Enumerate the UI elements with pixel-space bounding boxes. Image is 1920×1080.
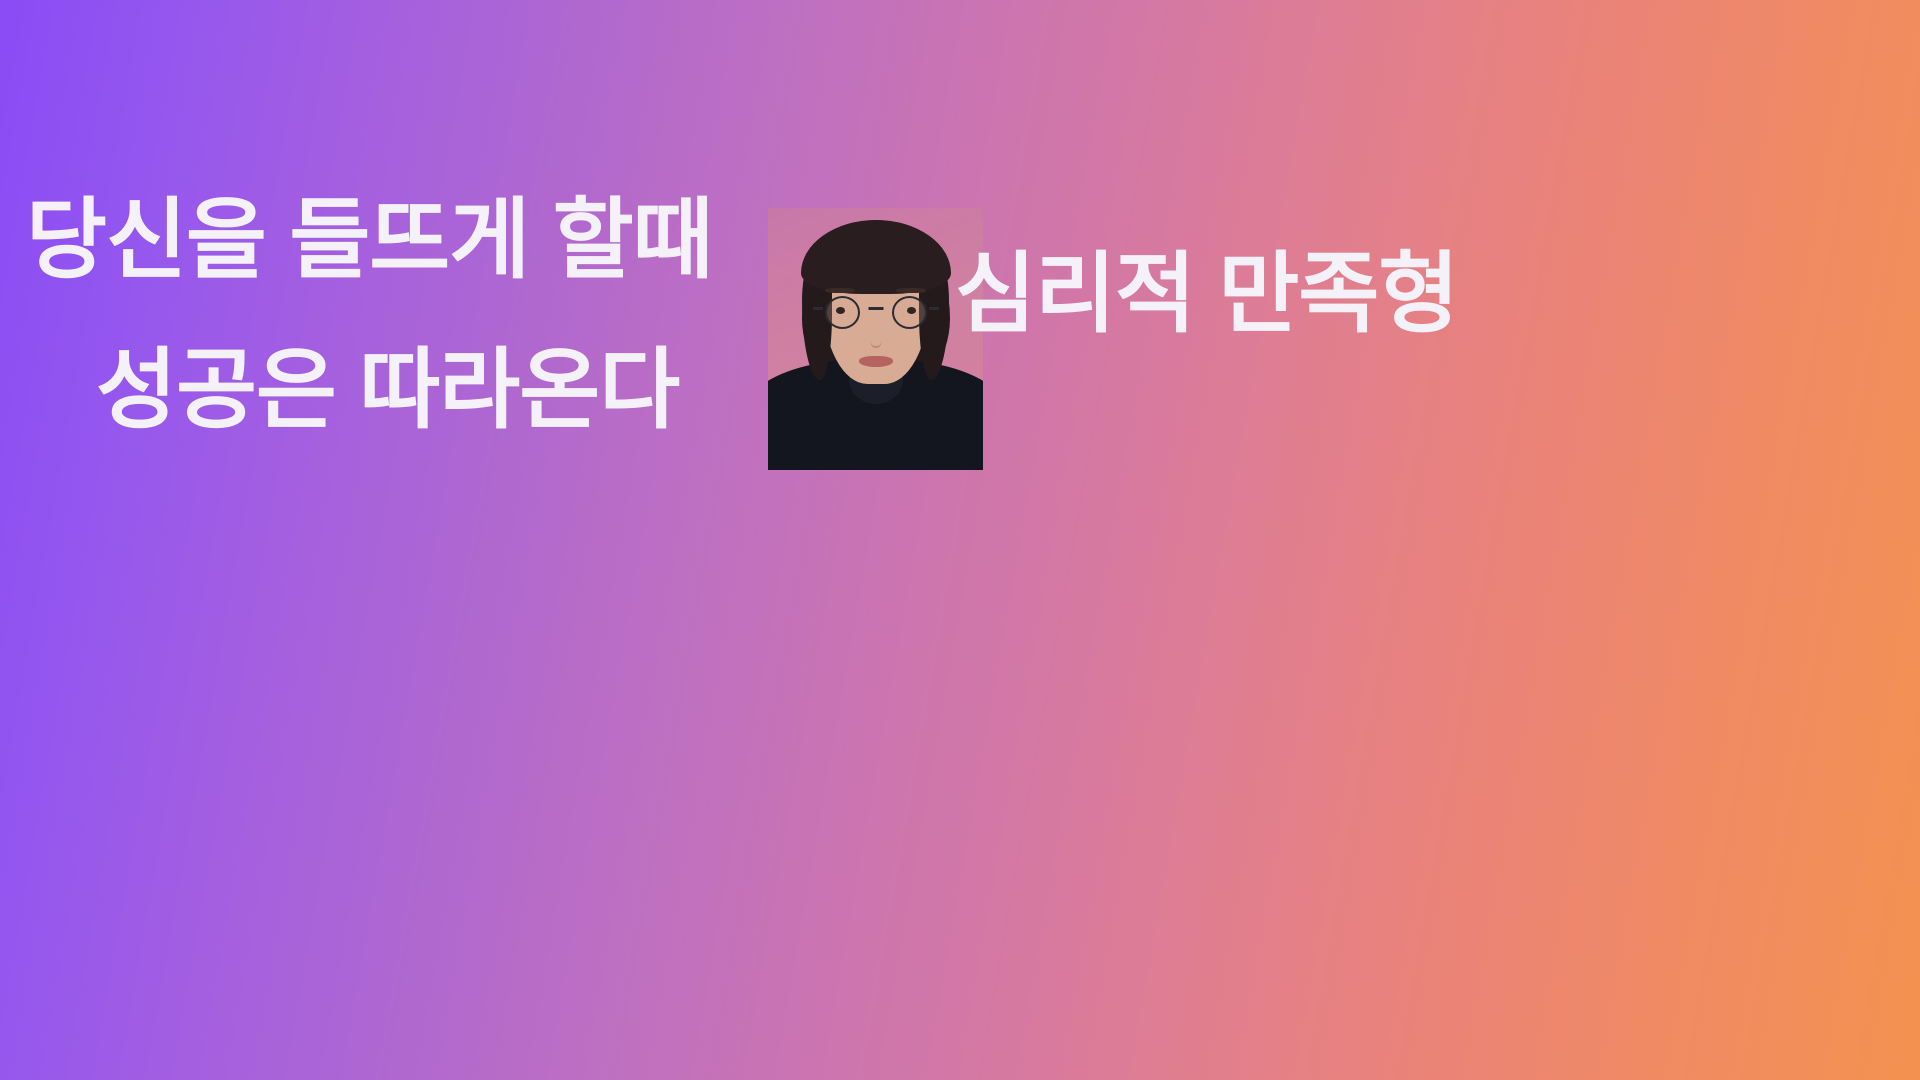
eye-right bbox=[907, 307, 916, 314]
eyeglasses-icon bbox=[822, 296, 930, 326]
slide-canvas: 당신을 들뜨게 할때 성공은 따라온다 심리적 만족형 bbox=[0, 0, 1920, 1080]
eyebrow-left bbox=[825, 288, 855, 293]
mouth bbox=[859, 356, 893, 367]
headline-right: 심리적 만족형 bbox=[955, 250, 1458, 338]
eye-left bbox=[836, 307, 845, 314]
headline-left-line-2: 성공은 따라온다 bbox=[96, 346, 818, 434]
nose bbox=[870, 330, 882, 348]
headline-left-line-1: 당신을 들뜨게 할때 bbox=[26, 196, 818, 284]
glasses-temple-right bbox=[929, 307, 939, 310]
glasses-bridge bbox=[868, 307, 883, 310]
headline-left: 당신을 들뜨게 할때 성공은 따라온다 bbox=[18, 196, 818, 434]
eyebrow-right bbox=[896, 288, 926, 293]
